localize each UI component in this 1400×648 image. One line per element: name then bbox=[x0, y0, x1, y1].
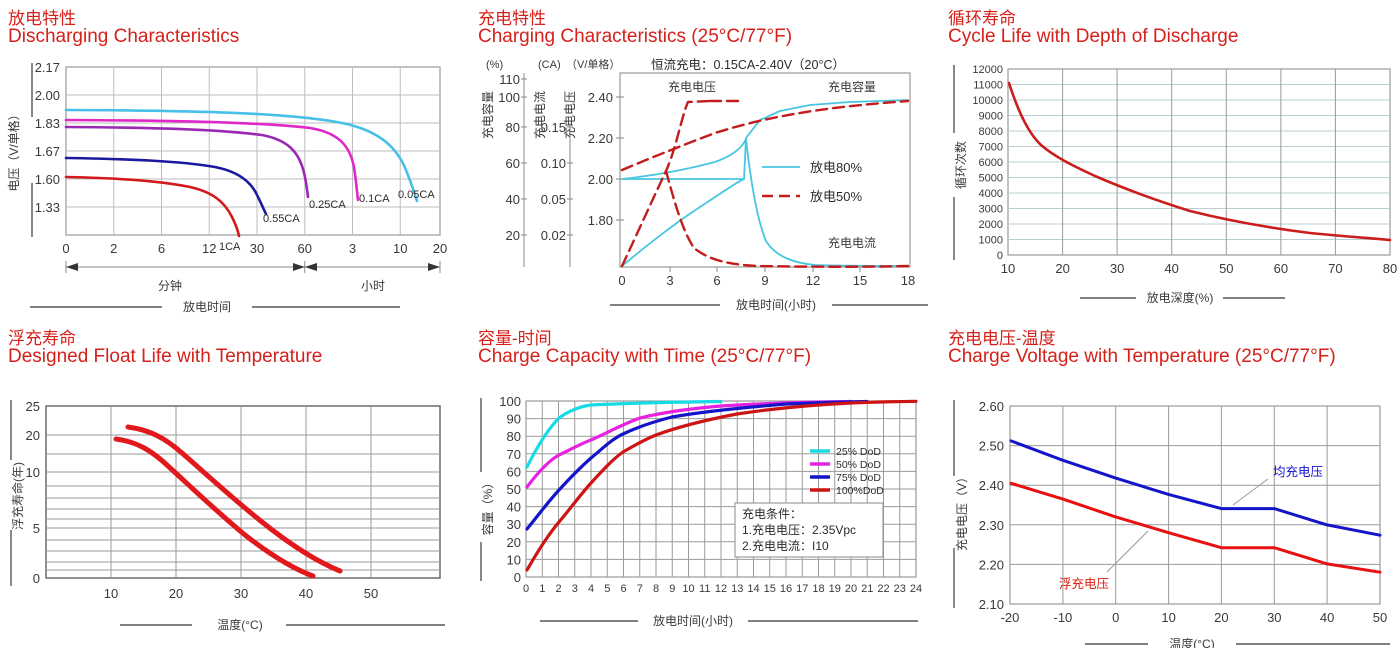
ytick: 2.17 bbox=[35, 60, 60, 75]
y-axis-label: 充电电压（V） bbox=[954, 471, 969, 551]
panel-title-en: Charge Capacity with Time (25°C/77°F) bbox=[478, 346, 811, 368]
ytick: 6000 bbox=[979, 157, 1003, 169]
xtick: -20 bbox=[1001, 610, 1020, 625]
xtick: 70 bbox=[1328, 261, 1342, 276]
ytick: 80 bbox=[507, 429, 521, 444]
ytick-capacity: 40 bbox=[506, 192, 520, 207]
inline-label-capacity: 充电容量 bbox=[828, 79, 876, 94]
xtick: 0 bbox=[1112, 610, 1119, 625]
ytick: 30 bbox=[507, 517, 521, 532]
ytick: 20 bbox=[507, 535, 521, 550]
ytick-capacity: 60 bbox=[506, 156, 520, 171]
curve-current-50 bbox=[666, 171, 908, 267]
xtick: 20 bbox=[845, 583, 857, 595]
ytick: 2.20 bbox=[979, 557, 1004, 572]
curve-label: 0.05CA bbox=[398, 189, 435, 201]
xtick: 24 bbox=[910, 583, 922, 595]
xtick: 12 bbox=[806, 273, 820, 288]
x-axis-label: 温度(°C) bbox=[1169, 636, 1214, 648]
xtick: 12 bbox=[202, 241, 216, 256]
xtick: 10 bbox=[1001, 261, 1015, 276]
ytick: 90 bbox=[507, 412, 521, 427]
inline-label-voltage: 充电电压 bbox=[668, 79, 716, 94]
y-axis-label-capacity: 充电容量 bbox=[480, 91, 495, 139]
charts-grid: 放电特性 Discharging Characteristics 2.17 2.… bbox=[0, 0, 1400, 648]
panel-title-en: Cycle Life with Depth of Discharge bbox=[948, 26, 1238, 48]
ytick: 0 bbox=[514, 570, 521, 585]
panel-title-en: Designed Float Life with Temperature bbox=[8, 346, 322, 368]
ytick: 10000 bbox=[972, 95, 1003, 107]
xtick: 7 bbox=[637, 583, 643, 595]
curve-label: 0.55CA bbox=[263, 213, 300, 225]
ytick: 1.67 bbox=[35, 144, 60, 159]
ytick-current: 0.05 bbox=[541, 192, 566, 207]
x-axis-label: 放电时间(小时) bbox=[736, 297, 816, 312]
x-axis-label: 放电时间(小时) bbox=[653, 613, 733, 628]
ytick: 8000 bbox=[979, 126, 1003, 138]
curve-label: 0.25CA bbox=[309, 199, 346, 211]
ytick: 2.40 bbox=[979, 478, 1004, 493]
xtick: 10 bbox=[104, 586, 118, 601]
legend-label: 放电50% bbox=[810, 189, 862, 204]
y-axis-label: 浮充寿命(年) bbox=[10, 462, 25, 530]
ytick: 0 bbox=[33, 571, 40, 586]
legend-label: 75% DoD bbox=[836, 472, 881, 484]
condition-line: 1.充电电压：2.35Vpc bbox=[742, 522, 856, 537]
panel-discharging-characteristics: 放电特性 Discharging Characteristics 2.17 2.… bbox=[0, 0, 470, 320]
xtick: 15 bbox=[764, 583, 776, 595]
ytick: 2.50 bbox=[979, 439, 1004, 454]
ytick-current: 0.10 bbox=[541, 156, 566, 171]
xtick: 19 bbox=[829, 583, 841, 595]
xtick: 2 bbox=[110, 241, 117, 256]
xtick: 40 bbox=[299, 586, 313, 601]
legend-label: 25% DoD bbox=[836, 446, 881, 458]
ytick: 9000 bbox=[979, 111, 1003, 123]
curve-055ca bbox=[66, 158, 266, 214]
ytick: 60 bbox=[507, 464, 521, 479]
panel-title-en: Charge Voltage with Temperature (25°C/77… bbox=[948, 346, 1336, 368]
ytick: 50 bbox=[507, 482, 521, 497]
xtick: 8 bbox=[653, 583, 659, 595]
chart-discharging: 2.17 2.00 1.83 1.67 1.60 1.33 1CA 0.55CA… bbox=[0, 55, 470, 320]
x-axis-label: 放电时间 bbox=[183, 299, 231, 314]
ytick: 5000 bbox=[979, 173, 1003, 185]
xtick: 80 bbox=[1383, 261, 1397, 276]
y-axis-label: 循环次数 bbox=[953, 141, 968, 189]
xtick: 10 bbox=[393, 241, 407, 256]
ytick: 100 bbox=[499, 394, 521, 409]
ytick: 70 bbox=[507, 447, 521, 462]
legend-label: 50% DoD bbox=[836, 459, 881, 471]
panel-title-en: Charging Characteristics (25°C/77°F) bbox=[478, 26, 792, 48]
inline-label-current: 充电电流 bbox=[828, 235, 876, 250]
xtick: 30 bbox=[1110, 261, 1124, 276]
xtick: 3 bbox=[349, 241, 356, 256]
x-segment-label: 小时 bbox=[361, 279, 385, 293]
ytick: 1.33 bbox=[35, 200, 60, 215]
ytick: 2.00 bbox=[35, 88, 60, 103]
xtick: 20 bbox=[1214, 610, 1228, 625]
condition-line: 充电条件： bbox=[742, 506, 802, 521]
chart-charge-voltage: 2.60 2.50 2.40 2.30 2.20 2.10 均充电压 浮充电压 … bbox=[940, 376, 1400, 648]
ytick: 12000 bbox=[972, 64, 1003, 76]
ytick: 2.60 bbox=[979, 399, 1004, 414]
xtick: 0 bbox=[62, 241, 69, 256]
xtick: 5 bbox=[604, 583, 610, 595]
ytick: 7000 bbox=[979, 142, 1003, 154]
xtick: 20 bbox=[433, 241, 447, 256]
panel-charging-characteristics: 充电特性 Charging Characteristics (25°C/77°F… bbox=[470, 0, 940, 320]
chart-cycle-life: 12000 11000 10000 9000 8000 7000 6000 50… bbox=[940, 55, 1400, 320]
xtick: 4 bbox=[588, 583, 594, 595]
ytick: 3000 bbox=[979, 204, 1003, 216]
ytick-capacity: 80 bbox=[506, 120, 520, 135]
ytick-current: 0.02 bbox=[541, 228, 566, 243]
curve-float-life-lower bbox=[116, 439, 313, 576]
condition-line: 2.充电电流：I10 bbox=[742, 538, 829, 553]
chart-note: 恒流充电：0.15CA-2.40V（20°C） bbox=[651, 57, 845, 72]
ytick: 1000 bbox=[979, 235, 1003, 247]
curve-voltage-80 bbox=[622, 179, 744, 266]
y-axis-label: 电压（V/单格） bbox=[6, 108, 21, 191]
chart-charging: 恒流充电：0.15CA-2.40V（20°C） (%) (CA) （V/单格） … bbox=[470, 55, 940, 320]
xtick: 18 bbox=[901, 273, 915, 288]
curve-label: 0.1CA bbox=[359, 193, 390, 205]
xtick: 30 bbox=[250, 241, 264, 256]
xtick: 13 bbox=[731, 583, 743, 595]
ytick-voltage: 2.40 bbox=[588, 90, 613, 105]
xtick: 60 bbox=[298, 241, 312, 256]
ytick: 20 bbox=[26, 428, 40, 443]
xtick: 15 bbox=[853, 273, 867, 288]
xtick: 30 bbox=[234, 586, 248, 601]
ytick: 10 bbox=[507, 552, 521, 567]
ytick: 4000 bbox=[979, 188, 1003, 200]
ytick: 11000 bbox=[973, 80, 1003, 92]
xtick: 40 bbox=[1164, 261, 1178, 276]
xtick: 60 bbox=[1274, 261, 1288, 276]
xtick: -10 bbox=[1054, 610, 1073, 625]
legend-label: 放电80% bbox=[810, 160, 862, 175]
annotation-float: 浮充电压 bbox=[1059, 576, 1109, 591]
curve-float-life-upper bbox=[128, 427, 340, 571]
xtick: 40 bbox=[1320, 610, 1334, 625]
chart-charge-capacity: 100 90 80 70 60 50 40 30 20 10 0 25% DoD… bbox=[470, 376, 940, 648]
ytick: 5 bbox=[33, 521, 40, 536]
ytick-capacity: 110 bbox=[499, 72, 520, 87]
legend-label: 100%DoD bbox=[836, 485, 884, 497]
curve-voltage-50 bbox=[622, 101, 710, 266]
xtick: 21 bbox=[861, 583, 873, 595]
xtick: 14 bbox=[747, 583, 759, 595]
ytick: 2000 bbox=[979, 219, 1003, 231]
xtick: 50 bbox=[1219, 261, 1233, 276]
ytick: 40 bbox=[507, 500, 521, 515]
xtick: 10 bbox=[682, 583, 694, 595]
panel-cycle-life: 循环寿命 Cycle Life with Depth of Discharge bbox=[940, 0, 1400, 320]
xtick: 18 bbox=[812, 583, 824, 595]
xtick: 50 bbox=[1373, 610, 1387, 625]
ytick-voltage: 2.20 bbox=[588, 131, 613, 146]
xtick: 0 bbox=[618, 273, 625, 288]
curve-float-voltage bbox=[1011, 483, 1380, 572]
ytick-voltage: 2.00 bbox=[588, 172, 613, 187]
ytick-voltage: 1.80 bbox=[588, 213, 613, 228]
xtick: 30 bbox=[1267, 610, 1281, 625]
ytick: 2.30 bbox=[979, 518, 1004, 533]
xtick: 23 bbox=[894, 583, 906, 595]
panel-title-en: Discharging Characteristics bbox=[8, 26, 239, 48]
xtick: 0 bbox=[523, 583, 529, 595]
axis-unit: （V/单格） bbox=[566, 57, 620, 71]
xtick: 12 bbox=[715, 583, 727, 595]
x-segment-label: 分钟 bbox=[158, 278, 182, 293]
curve-label: 1CA bbox=[219, 241, 241, 253]
xtick: 2 bbox=[555, 583, 561, 595]
y-axis-label: 容量（%） bbox=[480, 477, 495, 536]
xtick: 10 bbox=[1161, 610, 1175, 625]
chart-float-life: 25 20 10 5 0 10 20 30 40 50 温度(°C) 浮充寿命(… bbox=[0, 376, 470, 648]
axis-unit: (CA) bbox=[538, 59, 561, 71]
xtick: 3 bbox=[572, 583, 578, 595]
xtick: 11 bbox=[699, 583, 710, 595]
ytick: 1.60 bbox=[35, 172, 60, 187]
xtick: 3 bbox=[666, 273, 673, 288]
xtick: 6 bbox=[158, 241, 165, 256]
ytick: 25 bbox=[26, 399, 40, 414]
ytick-capacity: 100 bbox=[498, 90, 520, 105]
x-axis-label: 温度(°C) bbox=[217, 617, 262, 632]
xtick: 9 bbox=[669, 583, 675, 595]
curve-equalize-voltage bbox=[1011, 441, 1380, 535]
annotation-equalize: 均充电压 bbox=[1273, 464, 1323, 479]
xtick: 6 bbox=[620, 583, 626, 595]
xtick: 17 bbox=[796, 583, 808, 595]
panel-float-life: 浮充寿命 Designed Float Life with Temperatur… bbox=[0, 320, 470, 648]
panel-charge-capacity: 容量-时间 Charge Capacity with Time (25°C/77… bbox=[470, 320, 940, 648]
ytick: 1.83 bbox=[35, 116, 60, 131]
ytick: 10 bbox=[26, 465, 40, 480]
xtick: 1 bbox=[539, 583, 545, 595]
panel-charge-voltage-temperature: 充电电压-温度 Charge Voltage with Temperature … bbox=[940, 320, 1400, 648]
xtick: 22 bbox=[877, 583, 889, 595]
xtick: 20 bbox=[1055, 261, 1069, 276]
xtick: 9 bbox=[761, 273, 768, 288]
xtick: 6 bbox=[713, 273, 720, 288]
x-axis-label: 放电深度(%) bbox=[1147, 290, 1214, 305]
ytick-current: 0.15 bbox=[541, 120, 566, 135]
curve-capacity-50 bbox=[622, 101, 908, 170]
xtick: 16 bbox=[780, 583, 792, 595]
xtick: 20 bbox=[169, 586, 183, 601]
xtick: 50 bbox=[364, 586, 378, 601]
axis-unit: (%) bbox=[486, 59, 503, 71]
ytick-capacity: 20 bbox=[506, 228, 520, 243]
